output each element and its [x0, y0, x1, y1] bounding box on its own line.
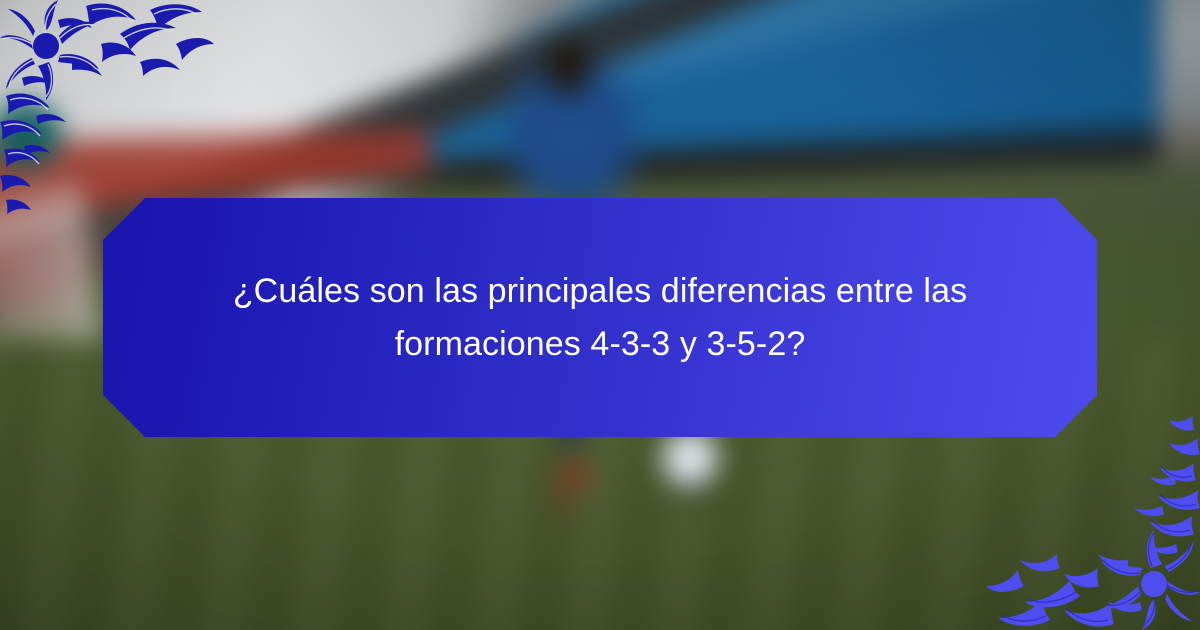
question-card-image: ¿Cuáles son las principales diferencias …	[0, 0, 1200, 630]
question-banner: ¿Cuáles son las principales diferencias …	[103, 198, 1097, 437]
question-text: ¿Cuáles son las principales diferencias …	[205, 265, 995, 370]
